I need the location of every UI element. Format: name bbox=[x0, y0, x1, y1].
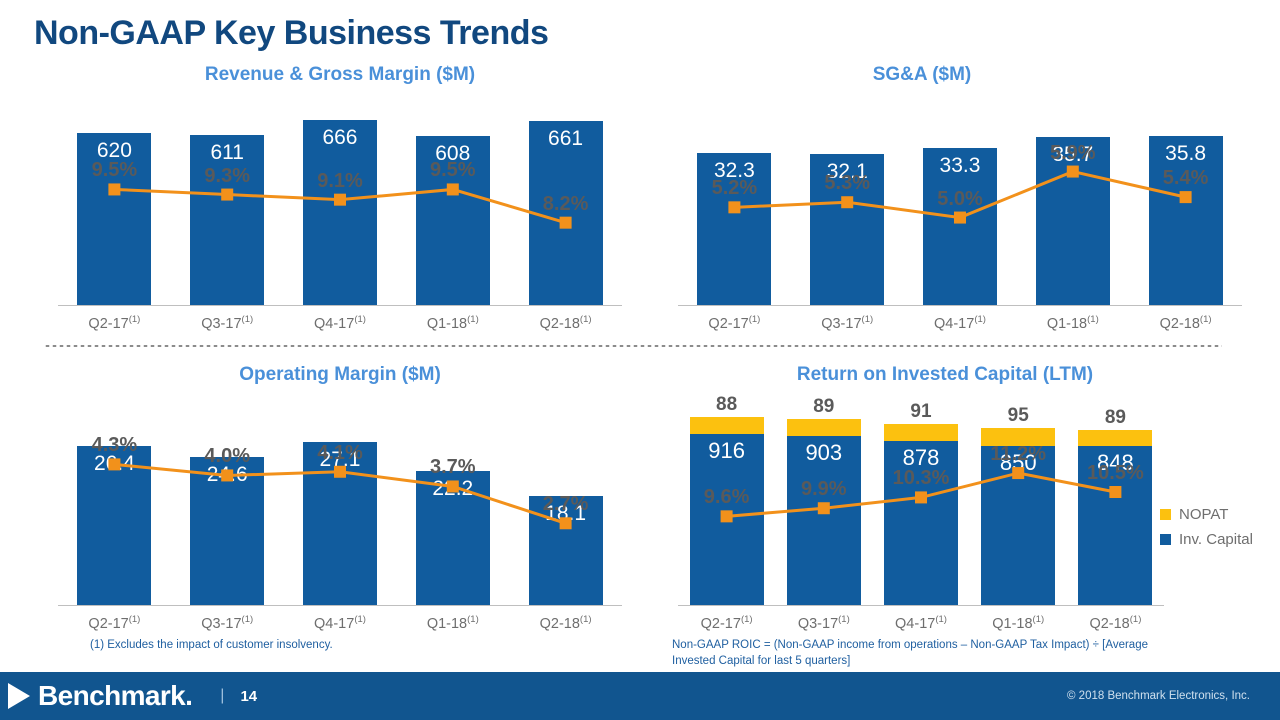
bar-segment-inv-capital: 850 bbox=[981, 446, 1055, 605]
x-tick-label: Q2-17(1) bbox=[678, 614, 775, 632]
play-triangle-icon bbox=[8, 683, 30, 709]
bar-segment-nopat: 91 bbox=[884, 424, 958, 441]
plot-area-roic: 8891689903918789585089848 9.6%9.9%10.3%1… bbox=[660, 388, 1260, 638]
bar[interactable]: 32.1 bbox=[810, 154, 884, 305]
stacked-bar[interactable]: 88916 bbox=[690, 417, 764, 605]
bar-segment-inv-capital: 916 bbox=[690, 434, 764, 605]
logo-wordmark: Benchmark. bbox=[38, 680, 192, 712]
x-tick-label: Q3-17(1) bbox=[171, 614, 284, 632]
x-tick-label: Q4-17(1) bbox=[284, 314, 397, 332]
bar[interactable]: 18.1 bbox=[529, 496, 603, 605]
bar[interactable]: 22.2 bbox=[416, 471, 490, 605]
bar-label-inv-capital: 850 bbox=[1000, 450, 1037, 605]
bar-group-operating-margin: 26.424.627.122.218.1 bbox=[58, 388, 622, 605]
bar-segment-inv-capital: 878 bbox=[884, 441, 958, 605]
bar-slot: 666 bbox=[284, 88, 397, 305]
page-number: 14 bbox=[240, 688, 257, 705]
bar-label: 608 bbox=[435, 142, 470, 305]
x-axis-line bbox=[678, 305, 1242, 306]
bar-segment-nopat: 95 bbox=[981, 428, 1055, 446]
plot-area-revenue: 620611666608661 9.5%9.3%9.1%9.5%8.2% Q2-… bbox=[40, 88, 640, 338]
bar-slot: 608 bbox=[396, 88, 509, 305]
chart-legend-roic: NOPAT Inv. Capital bbox=[1160, 506, 1260, 556]
chart-title-revenue: Revenue & Gross Margin ($M) bbox=[40, 62, 640, 88]
bar[interactable]: 35.7 bbox=[1036, 137, 1110, 305]
bar-label-nopat: 89 bbox=[787, 396, 861, 418]
bar[interactable]: 608 bbox=[416, 136, 490, 305]
bar[interactable]: 24.6 bbox=[190, 457, 264, 605]
bar[interactable]: 661 bbox=[529, 121, 603, 305]
bar-label-inv-capital: 916 bbox=[708, 438, 745, 605]
x-tick-labels-revenue: Q2-17(1)Q3-17(1)Q4-17(1)Q1-18(1)Q2-18(1) bbox=[58, 314, 622, 332]
x-axis-line bbox=[678, 605, 1164, 606]
legend-label-inv-capital: Inv. Capital bbox=[1179, 531, 1253, 548]
bar-slot: 35.8 bbox=[1129, 88, 1242, 305]
x-tick-label: Q3-17(1) bbox=[171, 314, 284, 332]
chart-panel-sga: SG&A ($M) 32.332.133.335.735.8 5.2%5.3%5… bbox=[660, 62, 1260, 342]
bar-label-nopat: 95 bbox=[981, 405, 1055, 427]
plot-area-sga: 32.332.133.335.735.8 5.2%5.3%5.0%5.9%5.4… bbox=[660, 88, 1260, 338]
bar-label: 22.2 bbox=[432, 477, 473, 605]
bar[interactable]: 33.3 bbox=[923, 148, 997, 305]
x-axis-line bbox=[58, 305, 622, 306]
bar[interactable]: 27.1 bbox=[303, 442, 377, 605]
bar-label: 27.1 bbox=[320, 448, 361, 605]
x-tick-label: Q2-18(1) bbox=[1067, 614, 1164, 632]
x-tick-label: Q3-17(1) bbox=[775, 614, 872, 632]
chart-panel-revenue: Revenue & Gross Margin ($M) 620611666608… bbox=[40, 62, 640, 342]
bar-slot: 611 bbox=[171, 88, 284, 305]
bar-slot: 22.2 bbox=[396, 388, 509, 605]
bar-slot: 95850 bbox=[970, 388, 1067, 605]
x-tick-label: Q2-17(1) bbox=[58, 614, 171, 632]
x-tick-label: Q2-17(1) bbox=[58, 314, 171, 332]
stacked-bar[interactable]: 89848 bbox=[1078, 430, 1152, 605]
bar-slot: 88916 bbox=[678, 388, 775, 605]
x-tick-label: Q4-17(1) bbox=[284, 614, 397, 632]
bar-label: 666 bbox=[322, 126, 357, 305]
legend-item-inv-capital: Inv. Capital bbox=[1160, 531, 1260, 548]
bar-label: 32.3 bbox=[714, 159, 755, 305]
bar-slot: 35.7 bbox=[1016, 88, 1129, 305]
bar-label: 32.1 bbox=[827, 160, 868, 305]
bar-label-nopat: 88 bbox=[690, 394, 764, 416]
x-tick-label: Q1-18(1) bbox=[396, 314, 509, 332]
bar-slot: 33.3 bbox=[904, 88, 1017, 305]
x-tick-label: Q4-17(1) bbox=[904, 314, 1017, 332]
bar-segment-inv-capital: 848 bbox=[1078, 446, 1152, 605]
copyright-notice: © 2018 Benchmark Electronics, Inc. bbox=[1067, 690, 1250, 702]
legend-label-nopat: NOPAT bbox=[1179, 506, 1228, 523]
chart-title-roic: Return on Invested Capital (LTM) bbox=[660, 362, 1260, 388]
bar-slot: 27.1 bbox=[284, 388, 397, 605]
bar-label: 35.8 bbox=[1165, 142, 1206, 305]
legend-swatch-inv-capital bbox=[1160, 534, 1171, 545]
bar-slot: 661 bbox=[509, 88, 622, 305]
bar-label: 33.3 bbox=[940, 154, 981, 305]
bar-group-sga: 32.332.133.335.735.8 bbox=[678, 88, 1242, 305]
legend-swatch-nopat bbox=[1160, 509, 1171, 520]
x-tick-labels-sga: Q2-17(1)Q3-17(1)Q4-17(1)Q1-18(1)Q2-18(1) bbox=[678, 314, 1242, 332]
bar-label: 611 bbox=[210, 141, 243, 305]
x-tick-label: Q3-17(1) bbox=[791, 314, 904, 332]
x-tick-label: Q2-18(1) bbox=[509, 314, 622, 332]
bar-label-inv-capital: 903 bbox=[805, 440, 842, 605]
x-axis-line bbox=[58, 605, 622, 606]
plot-area-operating-margin: 26.424.627.122.218.1 4.3%4.0%4.1%3.7%2.7… bbox=[40, 388, 640, 638]
page-title: Non-GAAP Key Business Trends bbox=[34, 14, 548, 53]
bar-slot: 26.4 bbox=[58, 388, 171, 605]
section-divider bbox=[44, 344, 1222, 348]
bar-group-roic: 8891689903918789585089848 bbox=[678, 388, 1164, 605]
bar-slot: 18.1 bbox=[509, 388, 622, 605]
footer-separator: | bbox=[220, 687, 224, 705]
x-tick-labels-operating-margin: Q2-17(1)Q3-17(1)Q4-17(1)Q1-18(1)Q2-18(1) bbox=[58, 614, 622, 632]
footnote-roic-formula: Non-GAAP ROIC = (Non-GAAP income from op… bbox=[672, 638, 1192, 670]
bar-label-inv-capital: 878 bbox=[903, 445, 940, 605]
bar-slot: 24.6 bbox=[171, 388, 284, 605]
bar[interactable]: 35.8 bbox=[1149, 136, 1223, 305]
bar[interactable]: 26.4 bbox=[77, 446, 151, 605]
bar[interactable]: 620 bbox=[77, 133, 151, 305]
bar-slot: 32.3 bbox=[678, 88, 791, 305]
x-tick-label: Q4-17(1) bbox=[872, 614, 969, 632]
x-tick-label: Q1-18(1) bbox=[396, 614, 509, 632]
x-tick-label: Q2-18(1) bbox=[1129, 314, 1242, 332]
chart-title-operating-margin: Operating Margin ($M) bbox=[40, 362, 640, 388]
footnote-customer-insolvency: (1) Excludes the impact of customer inso… bbox=[90, 638, 333, 654]
stacked-bar[interactable]: 89903 bbox=[787, 419, 861, 605]
bar-label: 18.1 bbox=[545, 502, 586, 605]
slide-footer: Benchmark. | 14 © 2018 Benchmark Electro… bbox=[0, 672, 1280, 720]
bar-segment-nopat: 89 bbox=[787, 419, 861, 436]
bar-segment-inv-capital: 903 bbox=[787, 436, 861, 605]
bar-group-revenue: 620611666608661 bbox=[58, 88, 622, 305]
bar-slot: 91878 bbox=[872, 388, 969, 605]
bar-slot: 89848 bbox=[1067, 388, 1164, 605]
bar-slot: 32.1 bbox=[791, 88, 904, 305]
bar[interactable]: 666 bbox=[303, 120, 377, 305]
bar-segment-nopat: 88 bbox=[690, 417, 764, 433]
bar-label-inv-capital: 848 bbox=[1097, 450, 1134, 605]
bar-label-nopat: 91 bbox=[884, 401, 958, 423]
bar-label: 35.7 bbox=[1052, 143, 1093, 305]
x-tick-label: Q2-17(1) bbox=[678, 314, 791, 332]
bar-label: 620 bbox=[97, 139, 132, 305]
x-tick-label: Q1-18(1) bbox=[1016, 314, 1129, 332]
chart-panel-roic: Return on Invested Capital (LTM) 8891689… bbox=[660, 362, 1260, 647]
bar-slot: 620 bbox=[58, 88, 171, 305]
bar-slot: 89903 bbox=[775, 388, 872, 605]
bar-label-nopat: 89 bbox=[1078, 407, 1152, 429]
chart-panel-operating-margin: Operating Margin ($M) 26.424.627.122.218… bbox=[40, 362, 640, 647]
x-tick-label: Q1-18(1) bbox=[970, 614, 1067, 632]
stacked-bar[interactable]: 91878 bbox=[884, 424, 958, 605]
bar-label: 26.4 bbox=[94, 452, 135, 605]
chart-title-sga: SG&A ($M) bbox=[660, 62, 1260, 88]
bar-label: 661 bbox=[548, 127, 583, 305]
x-tick-labels-roic: Q2-17(1)Q3-17(1)Q4-17(1)Q1-18(1)Q2-18(1) bbox=[678, 614, 1164, 632]
bar[interactable]: 32.3 bbox=[697, 153, 771, 305]
legend-item-nopat: NOPAT bbox=[1160, 506, 1260, 523]
bar-label: 24.6 bbox=[207, 463, 248, 605]
stacked-bar[interactable]: 95850 bbox=[981, 428, 1055, 605]
bar[interactable]: 611 bbox=[190, 135, 264, 305]
bar-segment-nopat: 89 bbox=[1078, 430, 1152, 447]
benchmark-logo: Benchmark. bbox=[8, 680, 192, 712]
x-tick-label: Q2-18(1) bbox=[509, 614, 622, 632]
